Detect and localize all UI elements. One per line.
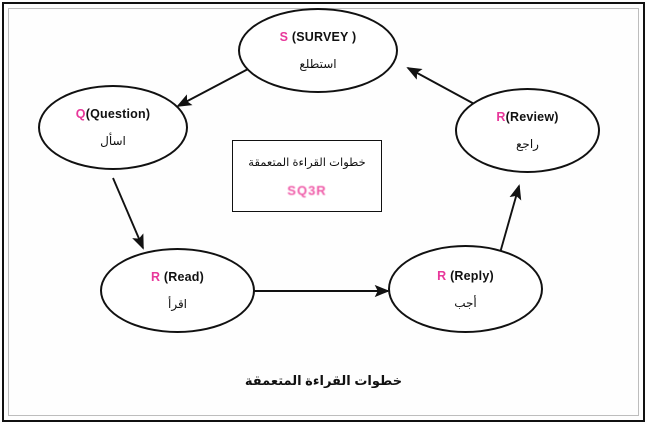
- arrow-question-to-read: [113, 178, 143, 248]
- node-review-arabic: راجع: [516, 137, 539, 151]
- node-review[interactable]: R(Review) راجع: [455, 88, 600, 173]
- node-read-initial: R: [151, 270, 160, 284]
- node-survey-arabic: استطلع: [299, 57, 336, 71]
- title-box-code: SQ3R: [287, 183, 326, 198]
- arrow-survey-to-question: [178, 68, 250, 106]
- node-review-label: R(Review): [496, 110, 558, 124]
- node-read-label: R (Read): [151, 270, 204, 284]
- node-read-english: (Read): [160, 270, 204, 284]
- node-survey-initial: S: [280, 30, 289, 44]
- node-read-arabic: اقرأ: [168, 297, 187, 311]
- title-box-arabic: خطوات القراءة المتعمقة: [248, 155, 365, 169]
- node-review-english: (Review): [506, 110, 559, 124]
- node-question-label: Q(Question): [76, 107, 150, 121]
- node-question-english: (Question): [86, 107, 151, 121]
- arrow-reply-to-review: [500, 186, 519, 253]
- node-question-arabic: اسأل: [100, 134, 126, 148]
- diagram-caption: خطوات القراءة المتعمقة: [0, 373, 647, 389]
- title-box: خطوات القراءة المتعمقة SQ3R: [232, 140, 382, 212]
- node-reply-label: R (Reply): [437, 269, 494, 283]
- node-reply-arabic: أجب: [454, 296, 477, 310]
- arrow-review-to-survey: [408, 68, 478, 106]
- node-read[interactable]: R (Read) اقرأ: [100, 248, 255, 333]
- node-question-initial: Q: [76, 107, 86, 121]
- node-reply-english: (Reply): [446, 269, 493, 283]
- node-survey-label: S (SURVEY ): [280, 30, 357, 44]
- diagram-canvas: S (SURVEY ) استطلع Q(Question) اسأل R(Re…: [0, 0, 647, 424]
- node-review-initial: R: [496, 110, 505, 124]
- node-survey[interactable]: S (SURVEY ) استطلع: [238, 8, 398, 93]
- node-survey-english: (SURVEY ): [288, 30, 356, 44]
- node-question[interactable]: Q(Question) اسأل: [38, 85, 188, 170]
- node-reply[interactable]: R (Reply) أجب: [388, 245, 543, 333]
- node-reply-initial: R: [437, 269, 446, 283]
